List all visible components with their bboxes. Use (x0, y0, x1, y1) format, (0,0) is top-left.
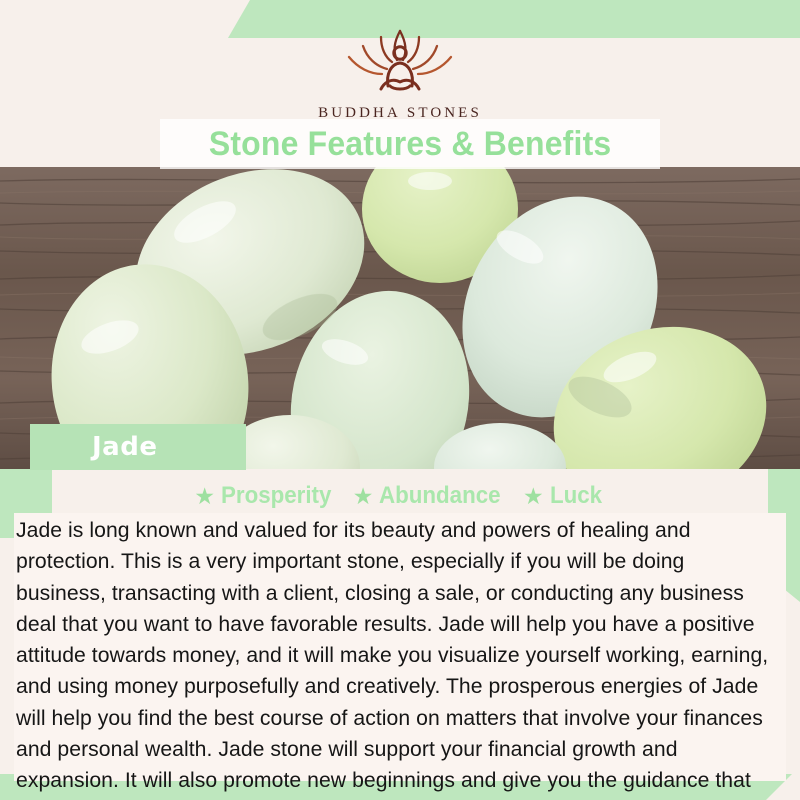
benefit-item-abundance: ★ Abundance (353, 482, 510, 510)
benefit-label: Luck (550, 482, 602, 510)
stone-name-label: Jade (30, 424, 246, 470)
page-title: Stone Features & Benefits (209, 125, 612, 164)
page-title-banner: Stone Features & Benefits (160, 119, 660, 169)
star-icon: ★ (523, 485, 544, 508)
star-icon: ★ (194, 485, 215, 508)
benefit-item-luck: ★ Luck (523, 482, 606, 510)
benefit-label: Abundance (379, 482, 501, 510)
description-text: Jade is long known and valued for its be… (16, 515, 774, 800)
brand-logo-block: BUDDHA STONES (0, 26, 800, 122)
benefits-row: ★ Prosperity ★ Abundance ★ Luck (0, 480, 800, 512)
benefit-label: Prosperity (221, 482, 331, 510)
stone-benefits-card: BUDDHA STONES (0, 0, 800, 800)
lotus-meditation-icon (341, 26, 459, 100)
star-icon: ★ (353, 485, 374, 508)
stone-name-text: Jade (92, 432, 157, 462)
benefit-item-prosperity: ★ Prosperity (194, 482, 339, 510)
